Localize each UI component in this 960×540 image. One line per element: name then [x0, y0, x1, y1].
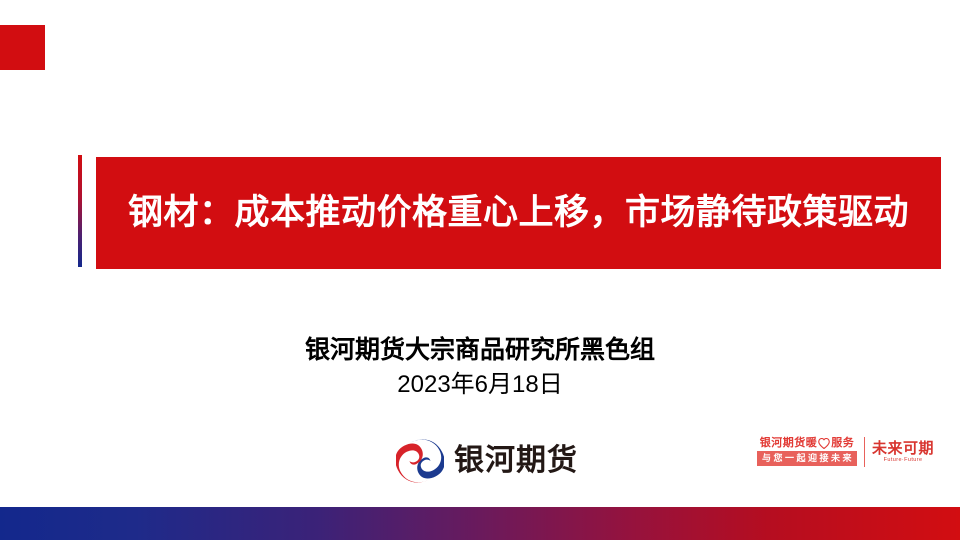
title-accent-rule — [78, 155, 82, 267]
brand-wordmark: 银河期货 — [454, 446, 578, 476]
title-banner: 钢材：成本推动价格重心上移，市场静待政策驱动 — [96, 157, 941, 269]
corner-accent-mark — [0, 25, 45, 70]
heart-icon — [818, 438, 830, 449]
future-mark-en: Future·Future — [884, 458, 923, 464]
service-slogan-top-left: 银河期货暖 — [760, 438, 818, 449]
service-slogan-top-right: 服务 — [831, 438, 854, 449]
subtitle-block: 银河期货大宗商品研究所黑色组 2023年6月18日 — [0, 334, 960, 400]
badge-divider — [864, 437, 865, 467]
subtitle-organization: 银河期货大宗商品研究所黑色组 — [0, 334, 960, 366]
subtitle-date: 2023年6月18日 — [0, 369, 960, 400]
bottom-gradient-band — [0, 507, 960, 540]
galaxy-futures-swirl-logo-icon — [396, 438, 444, 484]
service-slogan: 银河期货暖 服务 与您一起迎接未来 — [757, 438, 857, 466]
service-slogan-top-line: 银河期货暖 服务 — [760, 438, 855, 449]
future-mark-cn: 未来可期 — [872, 441, 934, 456]
service-slogan-bottom-line: 与您一起迎接未来 — [757, 451, 857, 466]
title-slide: 钢材：成本推动价格重心上移，市场静待政策驱动 银河期货大宗商品研究所黑色组 20… — [0, 0, 960, 540]
future-mark: 未来可期 Future·Future — [872, 441, 934, 464]
brand-logo-lockup: 银河期货 — [396, 438, 578, 484]
page-title: 钢材：成本推动价格重心上移，市场静待政策驱动 — [128, 194, 909, 233]
service-slogan-badge: 银河期货暖 服务 与您一起迎接未来 未来可期 Future·Future — [757, 437, 934, 467]
